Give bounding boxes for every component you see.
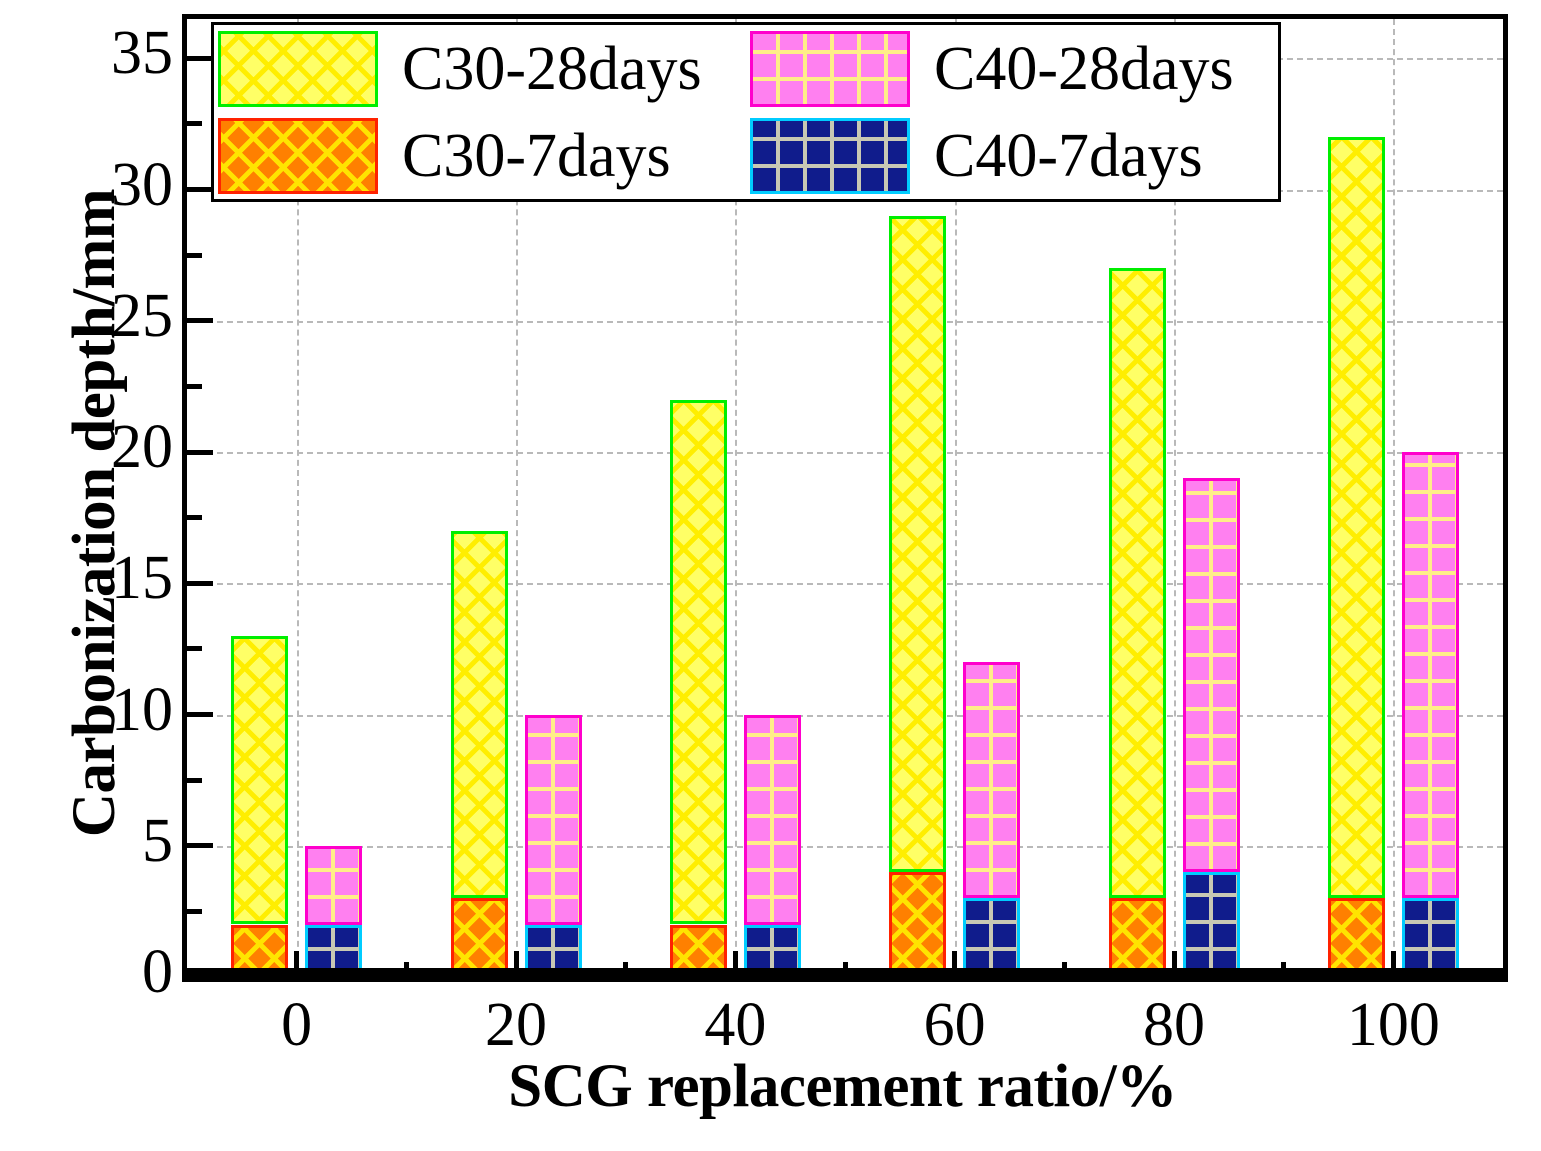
bar-pattern	[892, 875, 943, 974]
legend-label-c40-28days: C40-28days	[934, 38, 1234, 100]
x-tick-label: 40	[615, 990, 855, 1061]
bar-pattern	[1331, 901, 1382, 974]
y-tick-major	[187, 187, 213, 192]
y-tick-major	[187, 581, 213, 586]
bar-pattern	[454, 901, 505, 974]
x-tick-label: 60	[835, 990, 1075, 1061]
chart-legend: C30-28days C40-28days C30-7days C40-7day…	[211, 22, 1281, 202]
legend-item-c40-28days: C40-28days	[746, 25, 1278, 112]
bar-pattern	[308, 928, 359, 974]
bar-c40-7days-80	[1183, 872, 1240, 977]
bar-pattern	[1405, 901, 1456, 974]
legend-item-c30-7days: C30-7days	[214, 112, 746, 199]
y-tick-label: 20	[0, 412, 173, 483]
legend-swatch-c40-28days	[750, 31, 910, 107]
gridline-horizontal	[187, 715, 1503, 717]
legend-swatch-c30-7days	[218, 118, 378, 194]
legend-item-c30-28days: C30-28days	[214, 25, 746, 112]
legend-label-c40-7days: C40-7days	[934, 125, 1203, 187]
bar-pattern	[234, 928, 285, 974]
bar-pattern	[1112, 271, 1163, 895]
gridline-horizontal	[187, 583, 1503, 585]
y-tick-major	[187, 843, 213, 848]
bar-c30-28days-100	[1328, 137, 1385, 898]
gridline-vertical	[1393, 19, 1395, 977]
bar-c40-28days-40	[744, 715, 801, 925]
bar-c30-28days-40	[670, 400, 727, 925]
y-tick-label: 30	[0, 150, 173, 221]
bar-pattern	[1186, 481, 1237, 869]
bar-c40-7days-100	[1402, 898, 1459, 977]
bar-c40-7days-60	[963, 898, 1020, 977]
gridline-horizontal	[187, 321, 1503, 323]
carbonization-depth-bar-chart: Carbonization depth/mm SCG replacement r…	[0, 0, 1541, 1151]
legend-label-c30-28days: C30-28days	[402, 38, 702, 100]
bar-pattern	[528, 928, 579, 974]
x-tick-label: 80	[1054, 990, 1294, 1061]
bar-c30-7days-80	[1109, 898, 1166, 977]
y-tick-label: 10	[0, 675, 173, 746]
bar-pattern	[308, 849, 359, 922]
x-axis-title: SCG replacement ratio/%	[175, 1052, 1510, 1122]
bar-c30-7days-100	[1328, 898, 1385, 977]
y-tick-major	[187, 712, 213, 717]
y-tick-major	[187, 56, 213, 61]
bar-c30-7days-60	[889, 872, 946, 977]
gridline-horizontal	[187, 846, 1503, 848]
y-tick-label: 25	[0, 281, 173, 352]
x-tick-label: 20	[396, 990, 636, 1061]
y-tick-minor	[187, 646, 202, 651]
bar-pattern	[966, 665, 1017, 895]
y-tick-major	[187, 318, 213, 323]
gridline-horizontal	[187, 452, 1503, 454]
y-tick-minor	[187, 253, 202, 258]
bar-pattern	[747, 718, 798, 922]
legend-label-c30-7days: C30-7days	[402, 125, 671, 187]
bar-c30-28days-60	[889, 216, 946, 872]
bar-pattern	[454, 534, 505, 895]
y-tick-label: 15	[0, 543, 173, 614]
bar-pattern	[1331, 140, 1382, 895]
bar-pattern	[1405, 455, 1456, 895]
bar-pattern	[234, 639, 285, 922]
y-tick-label: 5	[0, 806, 173, 877]
bar-c40-28days-0	[305, 846, 362, 925]
y-tick-label: 35	[0, 18, 173, 89]
bar-c40-28days-100	[1402, 452, 1459, 898]
y-tick-label: 0	[0, 937, 173, 1008]
legend-swatch-c30-28days	[218, 31, 378, 107]
y-tick-minor	[187, 515, 202, 520]
bar-pattern	[1186, 875, 1237, 974]
bar-c40-28days-20	[525, 715, 582, 925]
bar-c30-7days-20	[451, 898, 508, 977]
bar-c40-28days-60	[963, 662, 1020, 898]
bar-pattern	[528, 718, 579, 922]
y-tick-minor	[187, 384, 202, 389]
bar-pattern	[1112, 901, 1163, 974]
y-tick-minor	[187, 909, 202, 914]
bar-c30-28days-0	[231, 636, 288, 925]
bar-c30-28days-20	[451, 531, 508, 898]
bar-pattern	[673, 928, 724, 974]
x-axis-line	[187, 968, 1503, 977]
bar-c40-28days-80	[1183, 478, 1240, 872]
x-tick-label: 0	[177, 990, 417, 1061]
y-tick-minor	[187, 121, 202, 126]
bar-c30-28days-80	[1109, 268, 1166, 898]
y-tick-minor	[187, 778, 202, 783]
legend-item-c40-7days: C40-7days	[746, 112, 1278, 199]
bar-pattern	[892, 219, 943, 869]
bar-pattern	[966, 901, 1017, 974]
y-tick-major	[187, 450, 213, 455]
bar-pattern	[747, 928, 798, 974]
bar-pattern	[673, 403, 724, 922]
legend-swatch-c40-7days	[750, 118, 910, 194]
x-tick-label: 100	[1273, 990, 1513, 1061]
